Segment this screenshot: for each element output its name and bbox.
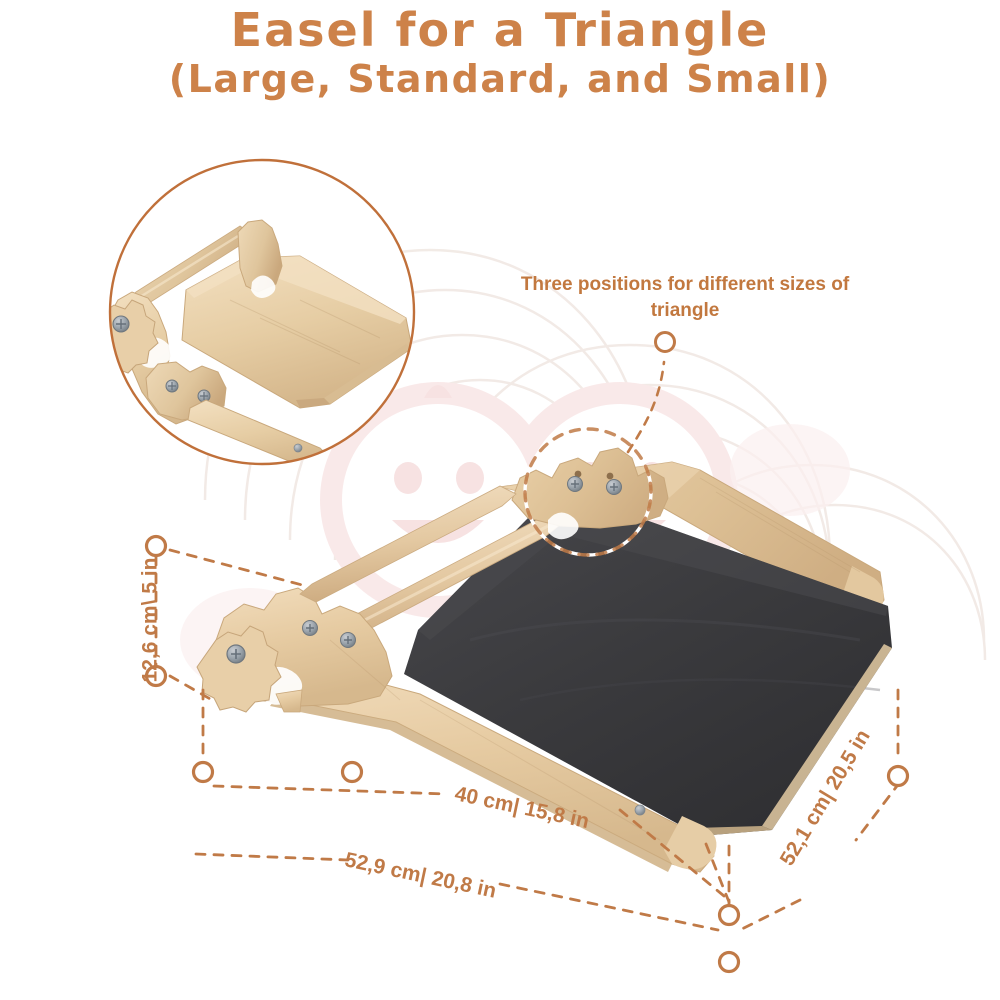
callout-label: Three positions for different sizes of t… (520, 272, 850, 323)
dimension-label-height: 12,6 cm\ 5 in (138, 558, 162, 683)
dim-tie-height-bottom (170, 676, 212, 700)
infographic-canvas: Easel for a Triangle (Large, Standard, a… (0, 0, 1000, 1000)
page-title-line2: (Large, Standard, and Small) (0, 58, 1000, 102)
dim-tie-height-top (170, 550, 306, 586)
dim-line-depth (856, 782, 900, 840)
page-title-line1: Easel for a Triangle (0, 6, 1000, 54)
dim-tie-board-corner (706, 844, 729, 902)
dim-line-total-width (196, 854, 348, 860)
dim-line-board-width (214, 786, 446, 794)
dimension-endpoint-circle-icon (147, 537, 908, 972)
dimension-lines-layer (0, 0, 1000, 1000)
page-title-block: Easel for a Triangle (Large, Standard, a… (0, 6, 1000, 102)
